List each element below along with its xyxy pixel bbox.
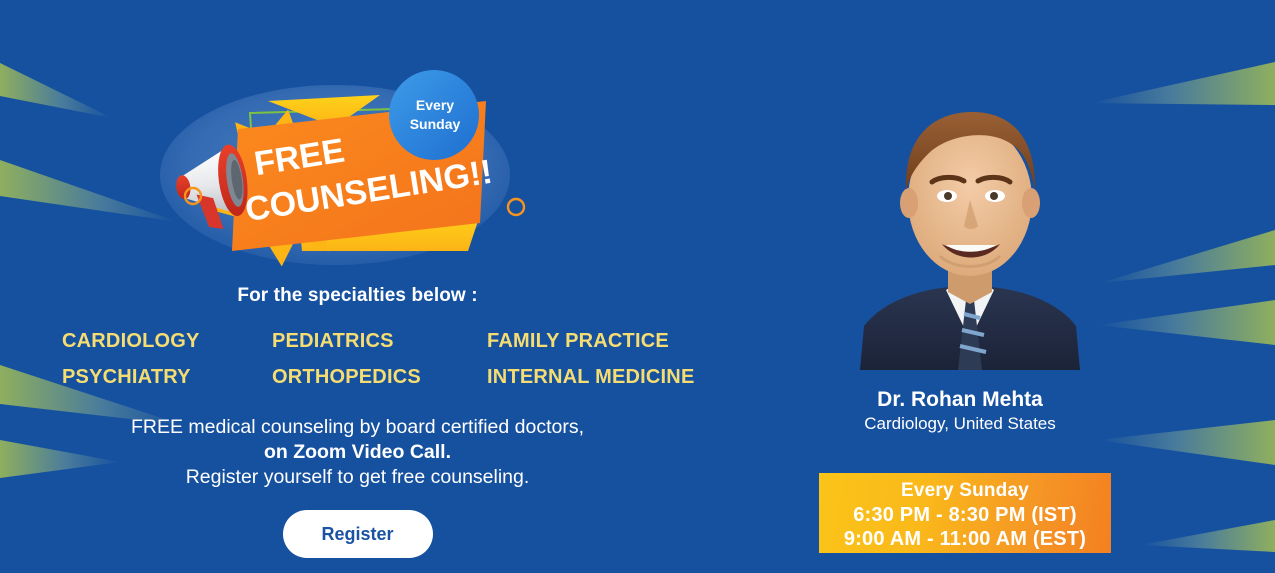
schedule-time-est: 9:00 AM - 11:00 AM (EST) [819,527,1111,551]
register-button[interactable]: Register [283,510,433,558]
promo-banner-page: FREE COUNSELING!! Every Sunday For the s… [0,0,1275,573]
description-block: FREE medical counseling by board certifi… [0,415,715,490]
specialty-item: PSYCHIATRY [62,366,272,389]
description-line-2: on Zoom Video Call. [0,440,715,465]
specialty-item: FAMILY PRACTICE [487,330,777,353]
free-counseling-graphic: FREE COUNSELING!! [150,55,570,285]
every-sunday-badge-text: Every Sunday [404,96,466,134]
badge-line-1: Every [404,96,466,115]
schedule-box: Every Sunday 6:30 PM - 8:30 PM (IST) 9:0… [819,473,1111,553]
schedule-time-ist: 6:30 PM - 8:30 PM (IST) [819,503,1111,527]
specialty-item: CARDIOLOGY [62,330,272,353]
ring-decoration-right [508,199,524,215]
specialty-item: ORTHOPEDICS [272,366,487,389]
doctor-photo [854,78,1086,370]
specialties-heading: For the specialties below : [0,285,715,307]
specialty-item: PEDIATRICS [272,330,487,353]
description-line-1: FREE medical counseling by board certifi… [0,415,715,440]
doctor-specialty-location: Cardiology, United States [800,414,1120,434]
specialty-item: INTERNAL MEDICINE [487,366,777,389]
badge-line-2: Sunday [404,115,466,134]
doctor-name: Dr. Rohan Mehta [800,388,1120,412]
schedule-day: Every Sunday [819,479,1111,503]
description-line-3: Register yourself to get free counseling… [0,465,715,490]
specialties-grid: CARDIOLOGY PEDIATRICS FAMILY PRACTICE PS… [0,330,715,389]
left-content-column: For the specialties below : CARDIOLOGY P… [0,285,715,558]
